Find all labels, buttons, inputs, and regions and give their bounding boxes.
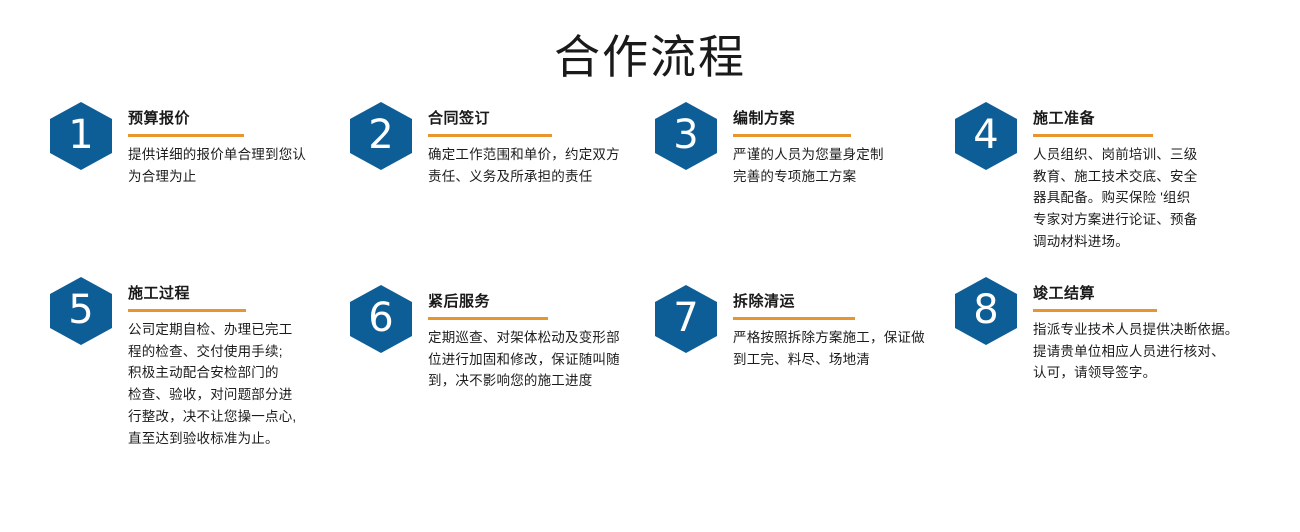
step-number-badge-8: 8 (955, 277, 1017, 345)
step-description-4: 人员组织、岗前培训、三级 教育、施工技术交底、安全 器具配备。购买保险 '组织 … (1033, 144, 1197, 253)
step-number-badge-7: 7 (655, 285, 717, 353)
process-step-3[interactable]: 3 编制方案 严谨的人员为您量身定制 完善的专项施工方案 (655, 102, 884, 187)
process-steps-grid: 1 预算报价 提供详细的报价单合理到您认 为合理为止 2 合同签订 确定工作范围… (0, 92, 1300, 472)
step-number-3: 3 (655, 102, 717, 170)
step-title-6: 紧后服务 (428, 293, 620, 312)
step-number-8: 8 (955, 277, 1017, 345)
step-number-6: 6 (350, 285, 412, 353)
step-rule-7 (733, 317, 855, 320)
step-number-badge-6: 6 (350, 285, 412, 353)
step-description-6: 定期巡查、对架体松动及变形部 位进行加固和修改，保证随叫随 到，决不影响您的施工… (428, 327, 620, 393)
step-description-3: 严谨的人员为您量身定制 完善的专项施工方案 (733, 144, 884, 188)
step-number-badge-4: 4 (955, 102, 1017, 170)
step-number-badge-2: 2 (350, 102, 412, 170)
step-body-6: 紧后服务 定期巡查、对架体松动及变形部 位进行加固和修改，保证随叫随 到，决不影… (428, 285, 620, 392)
process-step-1[interactable]: 1 预算报价 提供详细的报价单合理到您认 为合理为止 (50, 102, 306, 187)
step-title-5: 施工过程 (128, 285, 296, 304)
step-number-7: 7 (655, 285, 717, 353)
step-body-1: 预算报价 提供详细的报价单合理到您认 为合理为止 (128, 102, 306, 187)
step-title-1: 预算报价 (128, 110, 306, 129)
step-title-3: 编制方案 (733, 110, 884, 129)
step-body-2: 合同签订 确定工作范围和单价，约定双方 责任、义务及所承担的责任 (428, 102, 620, 187)
step-number-5: 5 (50, 277, 112, 345)
step-title-4: 施工准备 (1033, 110, 1197, 129)
step-description-8: 指派专业技术人员提供决断依据。 提请贵单位相应人员进行核对、 认可，请领导签字。 (1033, 319, 1239, 385)
step-rule-5 (128, 309, 246, 312)
step-number-badge-1: 1 (50, 102, 112, 170)
step-description-1: 提供详细的报价单合理到您认 为合理为止 (128, 144, 306, 188)
step-description-2: 确定工作范围和单价，约定双方 责任、义务及所承担的责任 (428, 144, 620, 188)
process-step-6[interactable]: 6 紧后服务 定期巡查、对架体松动及变形部 位进行加固和修改，保证随叫随 到，决… (350, 285, 620, 392)
step-number-1: 1 (50, 102, 112, 170)
step-number-badge-5: 5 (50, 277, 112, 345)
step-body-4: 施工准备 人员组织、岗前培训、三级 教育、施工技术交底、安全 器具配备。购买保险… (1033, 102, 1197, 253)
step-number-badge-3: 3 (655, 102, 717, 170)
step-rule-2 (428, 134, 552, 137)
step-number-2: 2 (350, 102, 412, 170)
process-step-5[interactable]: 5 施工过程 公司定期自检、办理已完工 程的检查、交付使用手续; 积极主动配合安… (50, 277, 296, 450)
page-title: 合作流程 (0, 0, 1300, 92)
step-title-7: 拆除清运 (733, 293, 925, 312)
step-body-3: 编制方案 严谨的人员为您量身定制 完善的专项施工方案 (733, 102, 884, 187)
step-rule-4 (1033, 134, 1153, 137)
step-rule-8 (1033, 309, 1157, 312)
step-rule-1 (128, 134, 244, 137)
step-number-4: 4 (955, 102, 1017, 170)
step-body-5: 施工过程 公司定期自检、办理已完工 程的检查、交付使用手续; 积极主动配合安检部… (128, 277, 296, 450)
step-title-2: 合同签订 (428, 110, 620, 129)
process-step-2[interactable]: 2 合同签订 确定工作范围和单价，约定双方 责任、义务及所承担的责任 (350, 102, 620, 187)
step-body-8: 竣工结算 指派专业技术人员提供决断依据。 提请贵单位相应人员进行核对、 认可，请… (1033, 277, 1239, 384)
process-step-7[interactable]: 7 拆除清运 严格按照拆除方案施工，保证做 到工完、料尽、场地清 (655, 285, 925, 370)
process-step-4[interactable]: 4 施工准备 人员组织、岗前培训、三级 教育、施工技术交底、安全 器具配备。购买… (955, 102, 1197, 253)
step-title-8: 竣工结算 (1033, 285, 1239, 304)
step-body-7: 拆除清运 严格按照拆除方案施工，保证做 到工完、料尽、场地清 (733, 285, 925, 370)
step-rule-6 (428, 317, 548, 320)
process-step-8[interactable]: 8 竣工结算 指派专业技术人员提供决断依据。 提请贵单位相应人员进行核对、 认可… (955, 277, 1239, 384)
step-description-7: 严格按照拆除方案施工，保证做 到工完、料尽、场地清 (733, 327, 925, 371)
step-description-5: 公司定期自检、办理已完工 程的检查、交付使用手续; 积极主动配合安检部门的 检查… (128, 319, 296, 450)
step-rule-3 (733, 134, 851, 137)
